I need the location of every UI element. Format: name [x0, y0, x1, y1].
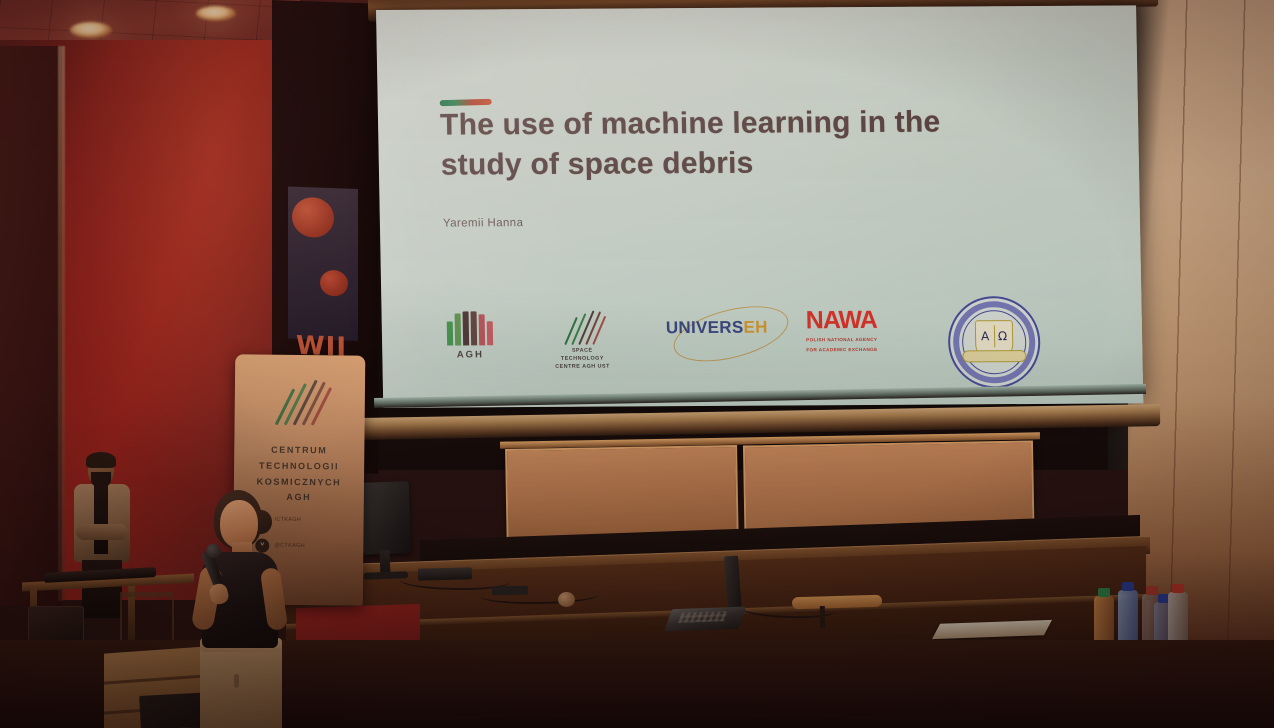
presenter-person [178, 488, 298, 728]
attendee-crossed-arms [76, 524, 128, 540]
presenter-drawstring [234, 674, 239, 688]
poster-sphere-icon [292, 197, 334, 238]
slide-logo-row: AGH SPACE TECHNOLOGY CENTRE AGH UST UNIV… [435, 298, 1097, 388]
university-seal-logo: A Ω [947, 296, 1041, 389]
slide-title: The use of machine learning in the study… [440, 102, 961, 184]
space-technology-centre-logo: SPACE TECHNOLOGY CENTRE AGH UST [535, 306, 628, 371]
nawa-subtitle-line1: POLISH NATIONAL AGENCY [806, 335, 916, 343]
desk-device [418, 567, 472, 580]
stc-label-line3: CENTRE AGH UST [536, 363, 628, 372]
chair-leg [820, 606, 825, 628]
attendee-shirt-opening [94, 486, 108, 554]
attendee-beard [91, 472, 111, 488]
seal-glyph-omega: Ω [998, 329, 1007, 343]
presenter-face [220, 500, 258, 548]
universeh-label: UNIVERSEH [666, 317, 796, 338]
low-chair [120, 592, 174, 642]
wall-poster [288, 187, 358, 341]
computer-monitor [361, 481, 411, 555]
agh-logo: AGH [442, 311, 499, 360]
stc-slashes-icon [535, 306, 628, 347]
bottle-cap [1146, 586, 1158, 595]
universeh-label-primary: UNIVERS [666, 318, 744, 337]
universeh-label-accent: EH [743, 318, 768, 337]
desk-ball-object [558, 592, 575, 607]
slide-author: Yaremii Hanna [443, 217, 524, 229]
seal-glyph-alpha: A [981, 329, 989, 343]
bottle-cap [1122, 582, 1134, 591]
bottle-cap [1098, 588, 1110, 597]
chair-backrest [792, 595, 882, 610]
poster-sphere-icon [320, 270, 348, 297]
ceiling-downlight [70, 22, 112, 38]
desk-device [492, 586, 528, 596]
universeh-logo: UNIVERSEH [666, 317, 796, 338]
nawa-label: NAWA [806, 309, 916, 333]
laptop-keyboard [678, 611, 728, 623]
agh-bars-icon [442, 311, 499, 345]
left-dark-wall [0, 46, 62, 606]
bottle-cap [1172, 584, 1184, 593]
ceiling-downlight [196, 6, 236, 21]
projection-screen: The use of machine learning in the study… [360, 0, 1160, 430]
agh-logo-label: AGH [442, 349, 498, 360]
banner-slashes-icon [269, 373, 340, 426]
lecture-hall-photo: WII The use of machine learning in the s… [0, 0, 1274, 728]
nawa-subtitle-line2: FOR ACADEMIC EXCHANGE [806, 346, 916, 354]
attendee-hair [86, 452, 116, 468]
nawa-logo: NAWA POLISH NATIONAL AGENCY FOR ACADEMIC… [806, 309, 917, 354]
microphone-head-icon [206, 544, 221, 558]
presentation-slide: The use of machine learning in the study… [376, 5, 1143, 408]
banner-line-2: TECHNOLOGII [234, 458, 364, 475]
banner-line-1: CENTRUM [234, 442, 364, 459]
seal-ribbon [962, 350, 1026, 362]
